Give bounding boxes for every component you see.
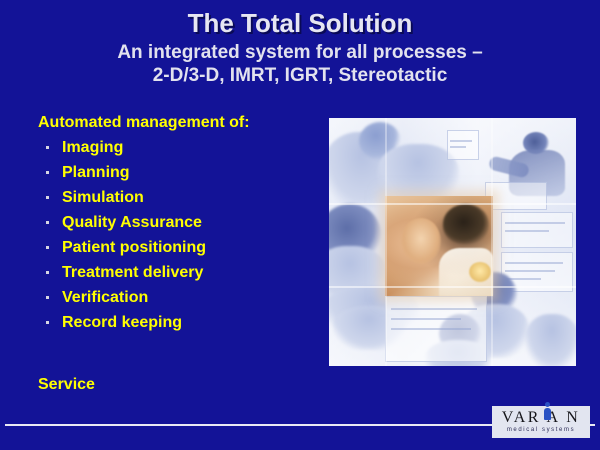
bullet-point-icon xyxy=(46,196,49,199)
slide-subtitle: An integrated system for all processes –… xyxy=(0,41,600,87)
list-item: Record keeping xyxy=(38,310,318,335)
collage-panel-line xyxy=(505,270,555,272)
subtitle-line-1: An integrated system for all processes – xyxy=(0,41,600,64)
collage-cup xyxy=(469,262,491,282)
collage-panel-line xyxy=(391,328,471,330)
collage-figure-staff-3 xyxy=(525,314,576,366)
list-item-label: Treatment delivery xyxy=(62,264,203,281)
list-item: Quality Assurance xyxy=(38,210,318,235)
varian-tagline: medical systems xyxy=(492,426,590,434)
bullet-point-icon xyxy=(46,321,49,324)
bullet-point-icon xyxy=(46,171,49,174)
collage-seam-vertical xyxy=(385,118,387,366)
bullet-point-icon xyxy=(46,246,49,249)
list-item-label: Patient positioning xyxy=(62,239,206,256)
collage-panel-line xyxy=(505,222,565,224)
bullet-point-icon xyxy=(46,221,49,224)
collage-seam-horizontal xyxy=(329,286,576,288)
collage-panel-line xyxy=(450,140,472,142)
list-item: Imaging xyxy=(38,135,318,160)
content-left-column: Automated management of: Imaging Plannin… xyxy=(38,113,318,335)
bullet-point-icon xyxy=(46,146,49,149)
service-label: Service xyxy=(38,375,95,395)
list-item-label: Verification xyxy=(62,289,148,306)
collage-panel-line xyxy=(391,308,477,310)
subtitle-line-2: 2-D/3-D, IMRT, IGRT, Stereotactic xyxy=(0,64,600,87)
page-title: The Total Solution xyxy=(0,8,600,38)
list-item: Patient positioning xyxy=(38,235,318,260)
varian-logo: VAR A N medical systems xyxy=(492,406,590,438)
title-block: The Total Solution An integrated system … xyxy=(0,8,600,87)
list-item-label: Record keeping xyxy=(62,314,182,331)
list-item: Planning xyxy=(38,160,318,185)
collage-panel-console xyxy=(485,182,547,210)
list-item-label: Simulation xyxy=(62,189,144,206)
collage-panel-line xyxy=(505,230,549,232)
slide-canvas: The Total Solution An integrated system … xyxy=(0,0,600,450)
collage-panel-wall-monitor xyxy=(447,130,479,160)
collage-seam-vertical xyxy=(491,118,493,366)
collage-doctor-hair xyxy=(443,204,489,244)
collage-center-photo-doctor-patient xyxy=(385,196,493,296)
collage-seam-horizontal xyxy=(329,203,576,205)
collage-patient-face xyxy=(401,218,441,264)
varian-person-head xyxy=(545,402,550,407)
collage-panel-line xyxy=(391,318,461,320)
varian-wordmark: VAR A N xyxy=(492,409,590,426)
collage-panel-line xyxy=(450,146,466,148)
bullet-list: Imaging Planning Simulation Quality Assu… xyxy=(38,135,318,335)
varian-person-icon xyxy=(544,402,551,420)
list-item: Simulation xyxy=(38,185,318,210)
list-item: Verification xyxy=(38,285,318,310)
list-item-label: Planning xyxy=(62,164,130,181)
bullet-point-icon xyxy=(46,271,49,274)
varian-person-body xyxy=(544,408,551,420)
bullet-point-icon xyxy=(46,296,49,299)
list-item-label: Imaging xyxy=(62,139,123,156)
medical-photo-collage xyxy=(329,118,576,366)
list-item: Treatment delivery xyxy=(38,260,318,285)
list-heading: Automated management of: xyxy=(38,113,318,133)
list-item-label: Quality Assurance xyxy=(62,214,202,231)
collage-panel-line xyxy=(505,262,563,264)
